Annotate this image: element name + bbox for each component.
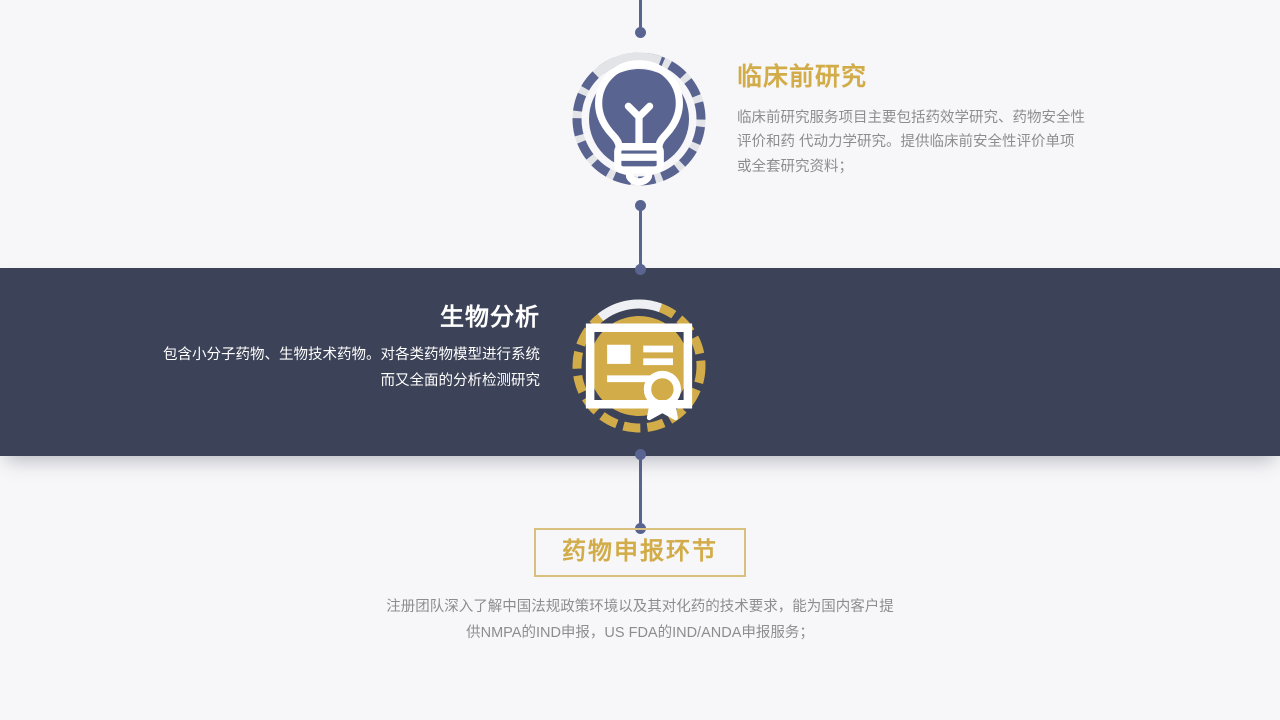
section-declaration-text: 药物申报环节 注册团队深入了解中国法规政策环境以及其对化药的技术要求，能为国内客… (380, 528, 900, 647)
badge-bioanalysis[interactable] (571, 298, 707, 434)
connector-dot-middle-upper (635, 200, 646, 211)
section-preclinical-text: 临床前研究 临床前研究服务项目主要包括药效学研究、药物安全性评价和药 代动力学研… (737, 64, 1087, 180)
lightbulb-icon (571, 51, 707, 187)
section-body-preclinical: 临床前研究服务项目主要包括药效学研究、药物安全性评价和药 代动力学研究。提供临床… (737, 106, 1087, 181)
infographic-stage: 临床前研究 临床前研究服务项目主要包括药效学研究、药物安全性评价和药 代动力学研… (0, 0, 1280, 720)
connector-dot-bottom-upper (635, 449, 646, 460)
connector-dot-middle-lower (635, 264, 646, 275)
section-body-declaration: 注册团队深入了解中国法规政策环境以及其对化药的技术要求，能为国内客户提供NMPA… (380, 595, 900, 647)
section-title-preclinical: 临床前研究 (737, 64, 1087, 92)
section-title-declaration[interactable]: 药物申报环节 (534, 528, 746, 577)
connector-line-bottom (639, 453, 642, 529)
section-bioanalysis-text: 生物分析 包含小分子药物、生物技术药物。对各类药物模型进行系统而又全面的分析检测… (150, 305, 540, 395)
certificate-icon (571, 298, 707, 434)
section-title-bioanalysis: 生物分析 (150, 305, 540, 331)
connector-dot-top (635, 27, 646, 38)
section-body-bioanalysis: 包含小分子药物、生物技术药物。对各类药物模型进行系统而又全面的分析检测研究 (150, 343, 540, 395)
badge-preclinical[interactable] (571, 51, 707, 187)
